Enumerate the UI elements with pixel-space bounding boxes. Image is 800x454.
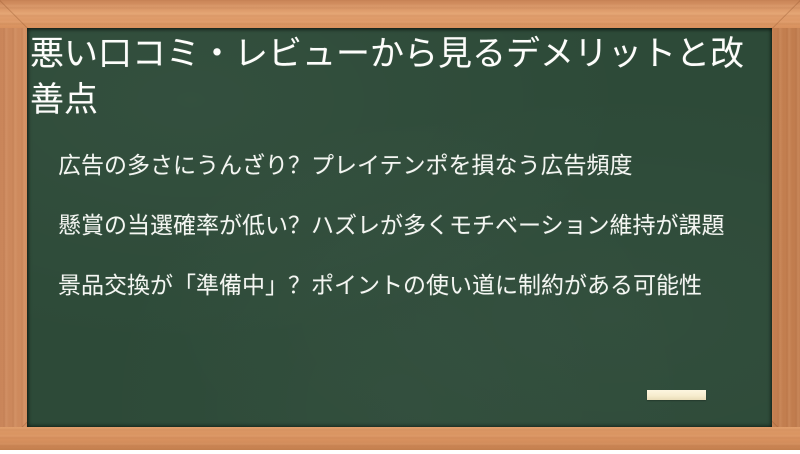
page-title: 悪い口コミ・レビューから見るデメリットと改善点 [30, 31, 750, 123]
list-item: 懸賞の当選確率が低い？ハズレが多くモチベーション維持が課題 [58, 208, 750, 243]
list-item: 広告の多さにうんざり？プレイテンポを損なう広告頻度 [58, 148, 750, 183]
list-item: 景品交換が「準備中」？ポイントの使い道に制約がある可能性 [58, 268, 750, 303]
wooden-frame: 悪い口コミ・レビューから見るデメリットと改善点 広告の多さにうんざり？プレイテン… [0, 0, 800, 450]
demerit-list: 広告の多さにうんざり？プレイテンポを損なう広告頻度 懸賞の当選確率が低い？ハズレ… [58, 148, 750, 303]
chalk-stick [647, 390, 706, 400]
chalkboard: 悪い口コミ・レビューから見るデメリットと改善点 広告の多さにうんざり？プレイテン… [27, 28, 772, 427]
